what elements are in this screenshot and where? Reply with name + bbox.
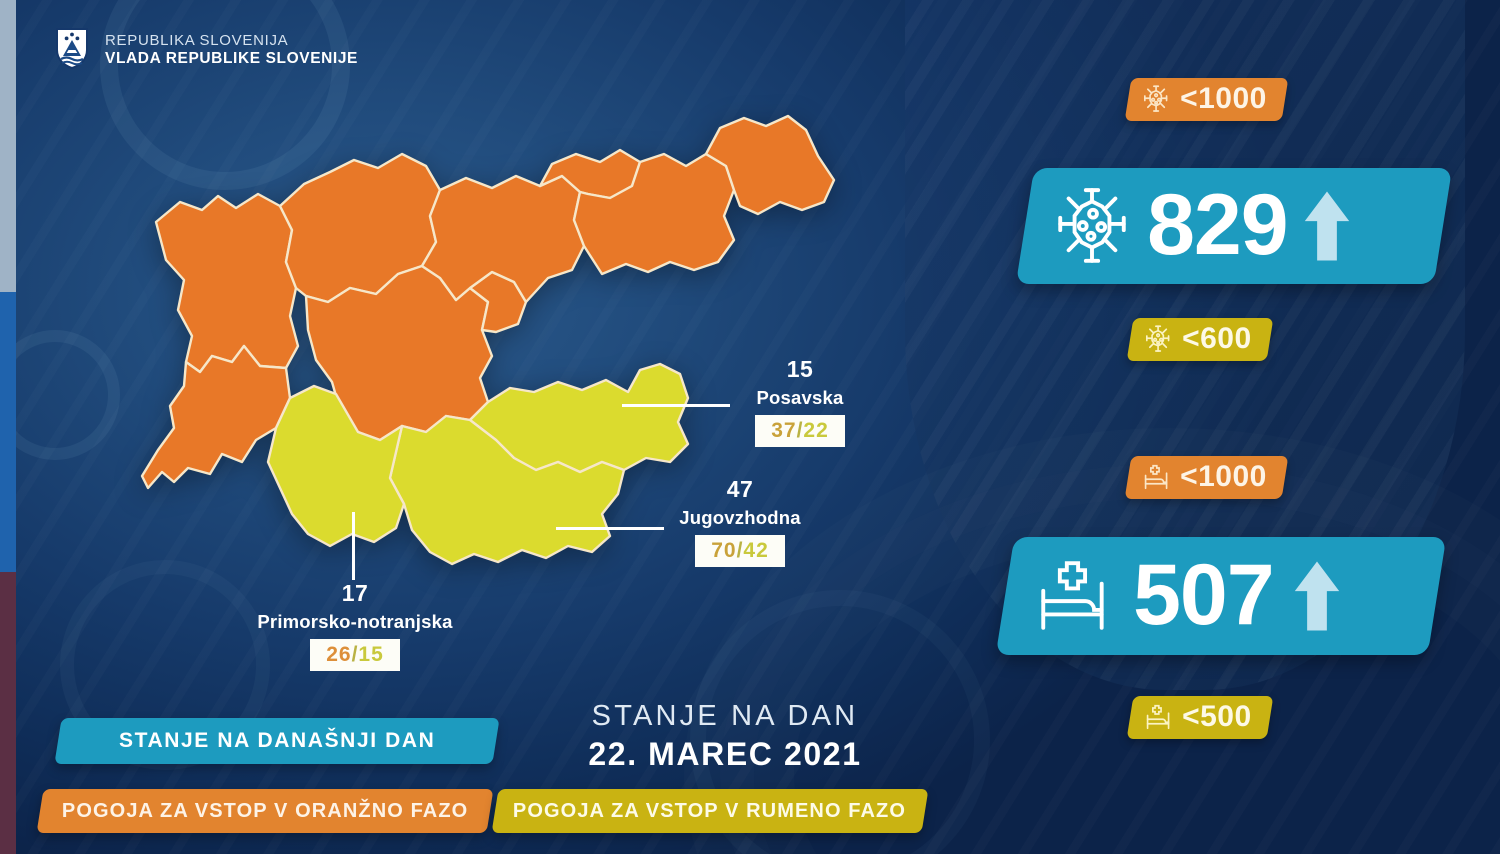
cases-yellow-threshold-value: <600 [1182,324,1252,354]
ratio-target: 15 [358,643,383,666]
ratio-current: 37 [771,419,796,442]
virus-icon [1141,84,1171,114]
slovenia-coat-of-arms-icon [55,26,89,75]
indicator-hosp-yellow-threshold: <500 [1130,696,1270,739]
trend-up-arrow-icon [1302,189,1352,263]
callout-posavska: 15 Posavska 37/22 [700,358,900,447]
callout-ratio: 70/42 [695,535,785,567]
hospital-bed-icon [1033,555,1115,637]
date-value: 22. MAREC 2021 [560,737,890,772]
callout-region-name: Posavska [700,389,900,408]
ratio-current: 70 [711,539,736,562]
callout-ratio: 26/15 [310,639,400,671]
leader-line-primorsko [352,512,355,580]
banner-yellow-label: POGOJA ZA VSTOP V RUMENO FAZO [513,800,906,823]
callout-primorsko-notranjska: 17 Primorsko-notranjska 26/15 [215,582,495,671]
callout-jugovzhodna: 47 Jugovzhodna 70/42 [630,478,850,567]
hosp-yellow-threshold-value: <500 [1182,702,1252,732]
date-block: STANJE NA DAN 22. MAREC 2021 [560,700,890,773]
indicator-hosp-orange-threshold: <1000 [1128,456,1285,499]
flag-band-white [0,0,16,292]
cases-orange-threshold-value: <1000 [1180,84,1267,114]
callout-value: 47 [630,478,850,501]
banner-today-status: STANJE NA DANAŠNJI DAN [54,718,499,764]
virus-icon [1051,185,1133,267]
banner-today-label: STANJE NA DANAŠNJI DAN [119,729,435,753]
flag-band-blue [0,292,16,572]
hosp-orange-threshold-value: <1000 [1180,462,1267,492]
infographic-canvas: REPUBLIKA SLOVENIJA VLADA REPUBLIKE SLOV… [0,0,1500,854]
banner-orange-label: POGOJA ZA VSTOP V ORANŽNO FAZO [62,800,468,823]
hospital-bed-icon [1143,702,1173,732]
banner-yellow-phase-conditions: POGOJA ZA VSTOP V RUMENO FAZO [492,789,929,833]
callout-ratio: 37/22 [755,415,845,447]
map-region-goriska [156,194,298,372]
map-region-obalno-kraska [142,346,290,488]
callout-value: 17 [215,582,495,605]
indicator-cases-orange-threshold: <1000 [1128,78,1285,121]
hosp-current-value: 507 [1133,556,1274,635]
ratio-target: 42 [743,539,768,562]
slovenia-flag-strip [0,0,16,854]
indicator-cases-current: 829 [1025,168,1443,284]
indicator-cases-yellow-threshold: <600 [1130,318,1270,361]
cases-current-value: 829 [1147,186,1288,265]
gov-line-1: REPUBLIKA SLOVENIJA [105,32,358,50]
gov-line-2: VLADA REPUBLIKE SLOVENIJE [105,50,358,69]
government-header: REPUBLIKA SLOVENIJA VLADA REPUBLIKE SLOV… [55,26,358,75]
ratio-current: 26 [326,643,351,666]
flag-band-red [0,572,16,854]
callout-value: 15 [700,358,900,381]
ratio-target: 22 [803,419,828,442]
indicator-hosp-current: 507 [1005,537,1437,655]
callout-region-name: Primorsko-notranjska [215,613,495,632]
date-label: STANJE NA DAN [560,700,890,733]
banner-orange-phase-conditions: POGOJA ZA VSTOP V ORANŽNO FAZO [37,789,494,833]
callout-region-name: Jugovzhodna [630,509,850,528]
hospital-bed-icon [1141,462,1171,492]
trend-up-arrow-icon [1292,559,1342,633]
virus-icon [1143,324,1173,354]
